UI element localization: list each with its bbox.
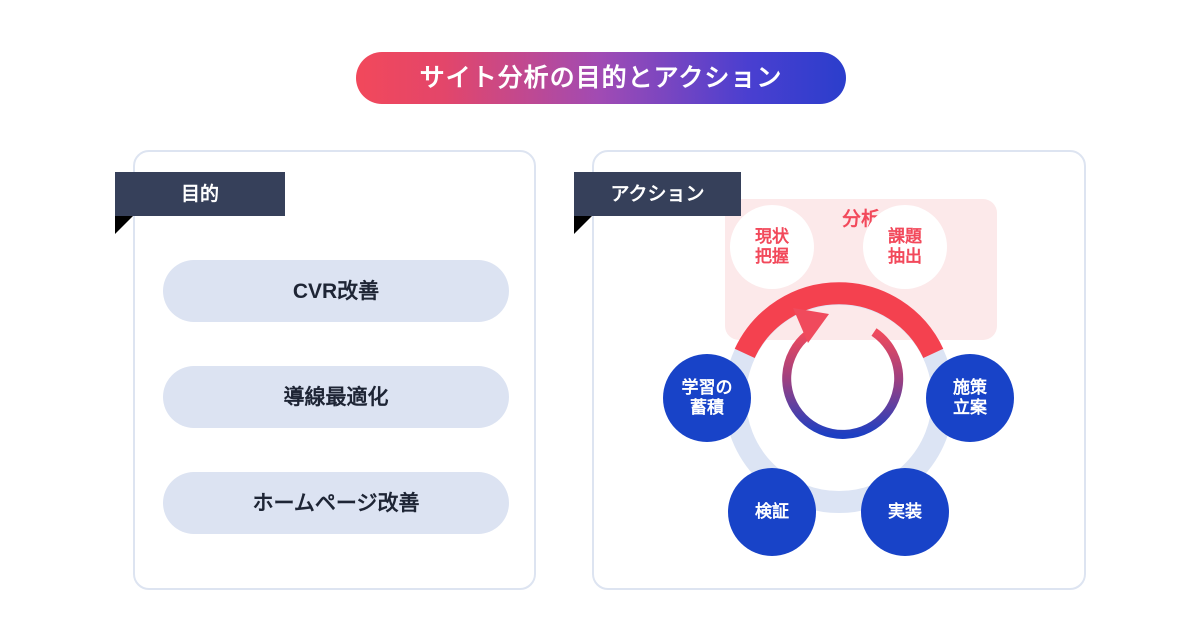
action-card: アクション 分析 現状 xyxy=(592,150,1086,590)
action-card-tab: アクション xyxy=(574,172,741,216)
cycle-node-label-line1: 現状 xyxy=(755,227,789,246)
page-title-banner: サイト分析の目的とアクション xyxy=(356,52,846,104)
cycle-node-label-line2: 把握 xyxy=(755,247,789,266)
cycle-node-gakushu-chikuseki[interactable]: 学習の 蓄積 xyxy=(663,354,751,442)
purpose-item[interactable]: ホームページ改善 xyxy=(163,472,509,534)
cycle-node-label-line2: 立案 xyxy=(953,398,987,417)
purpose-card-tab-label: 目的 xyxy=(163,185,237,204)
cycle-node-label: 施策 立案 xyxy=(953,378,987,418)
cycle-node-label-line2: 抽出 xyxy=(888,247,922,266)
purpose-item[interactable]: 導線最適化 xyxy=(163,366,509,428)
purpose-item-label: ホームページ改善 xyxy=(253,493,420,514)
purpose-item-label: 導線最適化 xyxy=(284,387,389,408)
cycle-node-kensho[interactable]: 検証 xyxy=(728,468,816,556)
page-title: サイト分析の目的とアクション xyxy=(420,66,783,91)
cycle-node-kadai-chushutsu[interactable]: 課題 抽出 xyxy=(863,205,947,289)
purpose-item[interactable]: CVR改善 xyxy=(163,260,509,322)
cycle-node-label: 実装 xyxy=(888,502,922,522)
purpose-card-tab: 目的 xyxy=(115,172,285,216)
action-cycle-diagram: 分析 現状 把握 xyxy=(594,152,1088,592)
action-card-tab-label: アクション xyxy=(592,185,722,204)
purpose-item-label: CVR改善 xyxy=(293,281,379,302)
cycle-node-label-line1: 課題 xyxy=(888,227,922,246)
cycle-ring-svg xyxy=(594,152,1088,592)
cycle-node-sesaku-rian[interactable]: 施策 立案 xyxy=(926,354,1014,442)
cycle-node-label-line2: 蓄積 xyxy=(690,398,724,417)
cycle-node-label: 学習の 蓄積 xyxy=(682,378,733,418)
cycle-node-label-line1: 学習の xyxy=(682,378,733,397)
cycle-node-genjo-haaku[interactable]: 現状 把握 xyxy=(730,205,814,289)
cycle-node-label: 課題 抽出 xyxy=(888,227,922,267)
purpose-card: 目的 CVR改善 導線最適化 ホームページ改善 xyxy=(133,150,536,590)
cycle-node-jisso[interactable]: 実装 xyxy=(861,468,949,556)
cycle-node-label: 検証 xyxy=(755,502,789,522)
circular-arrow-icon xyxy=(787,308,899,434)
cycle-node-label: 現状 把握 xyxy=(755,227,789,267)
cycle-ring-analysis-arc xyxy=(745,293,934,353)
purpose-item-list: CVR改善 導線最適化 ホームページ改善 xyxy=(163,260,509,534)
cycle-node-label-line1: 施策 xyxy=(953,378,987,397)
